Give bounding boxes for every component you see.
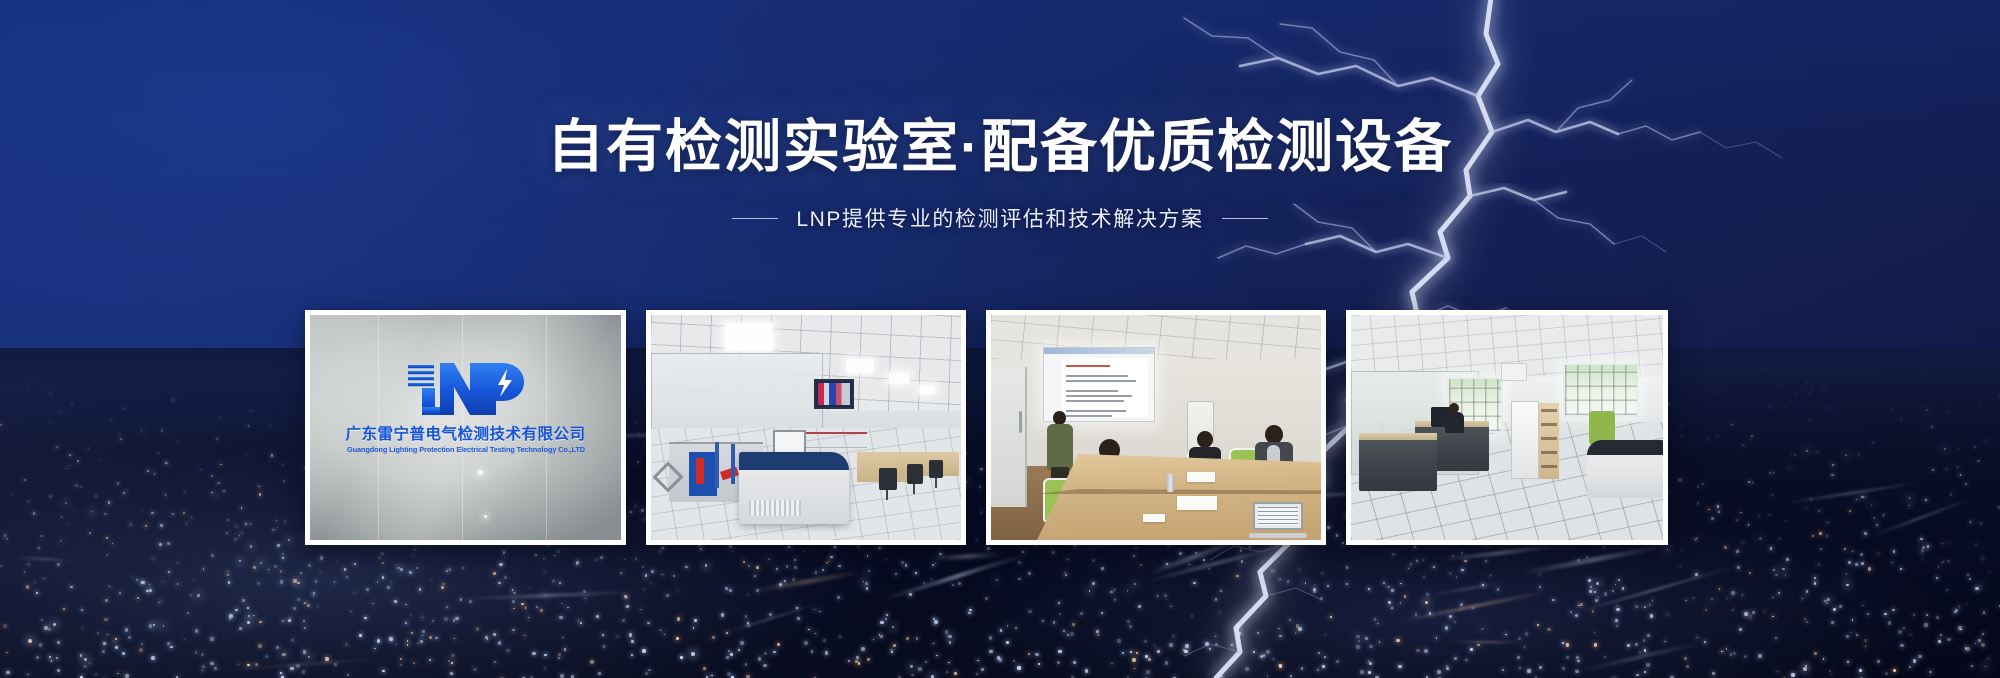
console-vent [749,500,801,516]
slide-content [1062,358,1148,417]
room-door [991,367,1027,507]
office-chair [879,468,897,490]
door-handle [1019,411,1022,433]
water-bottle [1167,474,1174,492]
air-conditioner [1501,363,1527,381]
person-body [1445,412,1464,433]
laptop [1249,502,1307,538]
paper-document [1143,514,1165,522]
slide-line [1066,400,1124,402]
slide-line [1066,380,1136,382]
person-head [1197,431,1213,448]
page-subtitle: LNP提供专业的检测评估和技术解决方案 [796,203,1203,233]
photo-company-logo-wall: 广东雷宁普电气检测技术有限公司 Guangdong Lighting Prote… [310,315,621,540]
slide-line [1066,395,1132,397]
support-pole [715,442,719,488]
reception-counter [1587,440,1663,498]
slide-titlebar [1044,348,1154,354]
person-head [1053,411,1066,425]
hero-banner: 自有检测实验室·配备优质检测设备 LNP提供专业的检测评估和技术解决方案 [0,0,2000,678]
gallery-card-test-laboratory[interactable] [646,310,966,545]
storage-cabinet [1511,401,1539,479]
ceiling-light [847,359,873,373]
company-name-en: Guangdong Lighting Protection Electrical… [333,445,598,454]
lnp-logo-icon [404,355,528,419]
ceiling-grid [991,315,1321,359]
desk-surface [1359,433,1437,440]
safety-railing [801,432,867,448]
company-name-cn: 广东雷宁普电气检测技术有限公司 [336,422,596,444]
photo-gallery: 广东雷宁普电气检测技术有限公司 Guangdong Lighting Prote… [305,310,1668,545]
control-console [739,452,849,524]
slide-line [1066,415,1112,417]
hero-copy: 自有检测实验室·配备优质检测设备 LNP提供专业的检测评估和技术解决方案 [0,112,2000,233]
subtitle-row: LNP提供专业的检测评估和技术解决方案 [0,203,2000,233]
office-chair [929,460,943,478]
ceiling-light [889,373,909,384]
ceiling-light [919,385,935,394]
paper-document [1177,496,1217,510]
slide-line [1066,375,1128,377]
gallery-card-meeting-room[interactable] [986,310,1326,545]
slide-line [1066,390,1118,392]
bookshelf [1539,403,1559,479]
person-body [1047,424,1073,470]
photo-meeting-room [991,315,1321,540]
rule-right-icon [1222,218,1268,219]
photo-office-area [1351,315,1663,540]
support-pole [731,444,735,484]
photo-test-laboratory [651,315,961,540]
company-logo-group: 广东雷宁普电气检测技术有限公司 Guangdong Lighting Prote… [336,355,596,454]
page-title: 自有检测实验室·配备优质检测设备 [0,112,2000,183]
window [1563,363,1639,417]
ceiling-light [725,323,773,351]
slide-line [1066,410,1126,412]
laptop-keyboard [1249,533,1307,538]
wall-monitor [814,379,854,409]
insulator-red [696,458,704,484]
slide-line [1066,365,1110,367]
gallery-card-office-area[interactable] [1346,310,1668,545]
paper-document [1187,472,1215,482]
laptop-screen [1253,502,1303,530]
work-desk [1359,437,1437,491]
gallery-card-company-logo-wall[interactable]: 广东雷宁普电气检测技术有限公司 Guangdong Lighting Prote… [305,310,626,545]
rule-left-icon [732,218,778,219]
office-chair [907,464,923,484]
